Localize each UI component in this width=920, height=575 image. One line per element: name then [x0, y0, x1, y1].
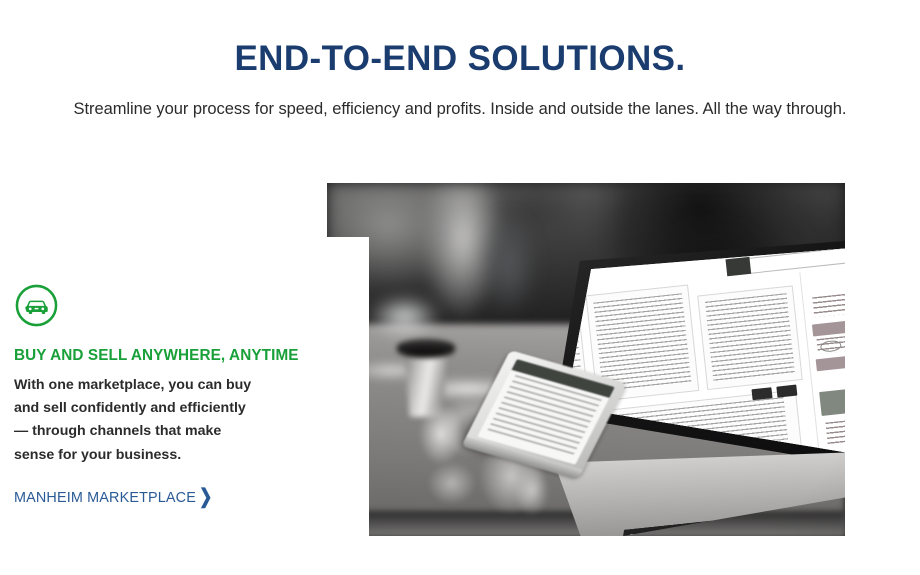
feature-body-text: With one marketplace, you can buy and se… — [14, 365, 254, 467]
car-in-circle-icon — [14, 283, 324, 328]
photo-vignette — [327, 183, 845, 536]
photo-canvas — [327, 183, 845, 536]
manheim-marketplace-link[interactable]: MANHEIM MARKETPLACE ❯ — [14, 490, 213, 506]
feature-block: BUY AND SELL ANYWHERE, ANYTIME With one … — [14, 283, 324, 507]
page-header: END-TO-END SOLUTIONS. Streamline your pr… — [0, 0, 920, 119]
chevron-right-icon: ❯ — [199, 488, 213, 508]
feature-photo — [327, 183, 845, 536]
manheim-marketplace-link-label: MANHEIM MARKETPLACE — [14, 490, 196, 506]
page-subtitle: Streamline your process for speed, effic… — [0, 78, 920, 119]
page-title: END-TO-END SOLUTIONS. — [0, 0, 920, 78]
feature-heading: BUY AND SELL ANYWHERE, ANYTIME — [14, 328, 324, 365]
